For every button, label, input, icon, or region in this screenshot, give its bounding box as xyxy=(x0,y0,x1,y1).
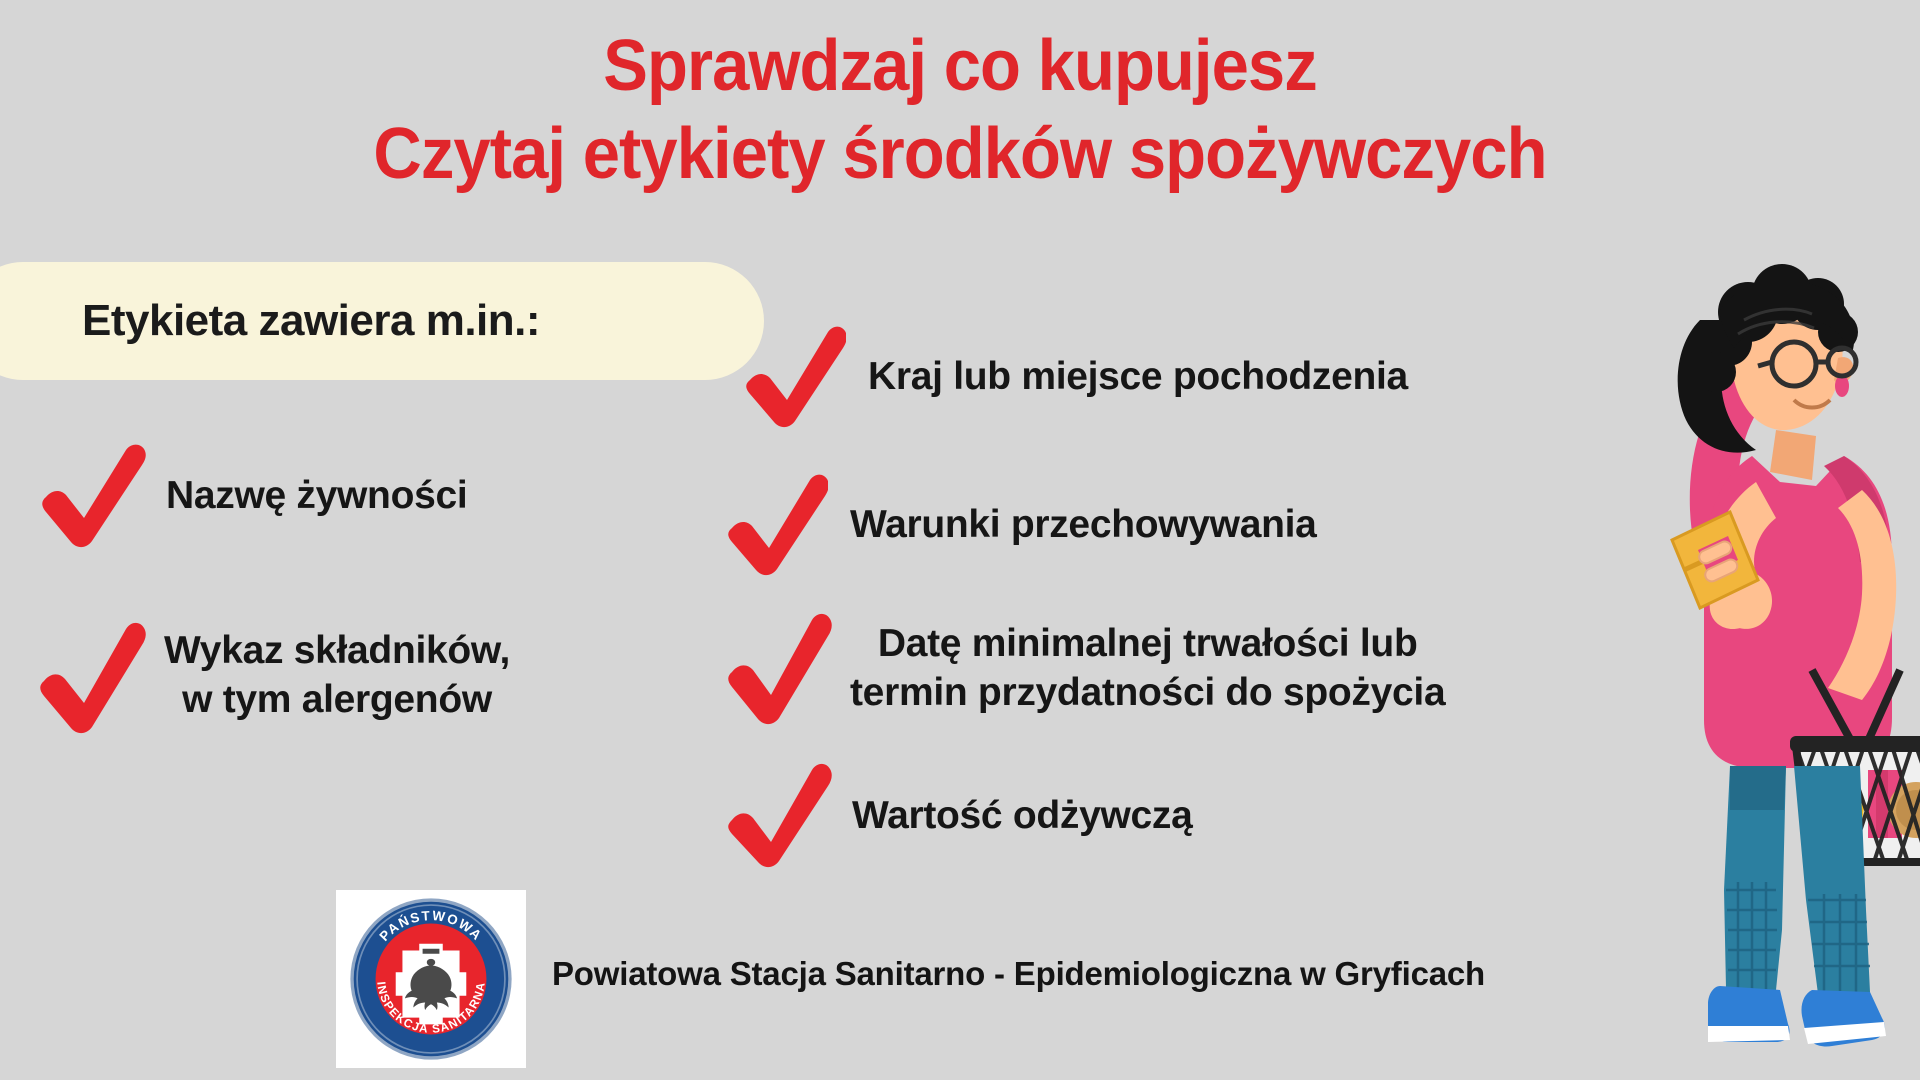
infographic-canvas: Sprawdzaj co kupujesz Czytaj etykiety śr… xyxy=(0,0,1920,1080)
list-item-label: Wartość odżywczą xyxy=(852,791,1193,840)
check-icon xyxy=(740,322,846,430)
list-item-label: Datę minimalnej trwałości lub termin prz… xyxy=(850,619,1445,717)
list-item-label: Wykaz składników, w tym alergenów xyxy=(164,626,510,724)
footer-organization-name: Powiatowa Stacja Sanitarno - Epidemiolog… xyxy=(552,955,1485,993)
list-item: Datę minimalnej trwałości lub termin prz… xyxy=(722,608,1445,728)
title-line-2: Czytaj etykiety środków spożywczych xyxy=(67,110,1853,198)
title-line-1: Sprawdzaj co kupujesz xyxy=(67,22,1853,110)
list-item-label: Warunki przechowywania xyxy=(850,500,1317,549)
list-item: Wartość odżywczą xyxy=(722,760,1193,870)
badge-label: Etykieta zawiera m.in.: xyxy=(82,296,540,346)
check-icon xyxy=(34,440,146,550)
page-title: Sprawdzaj co kupujesz Czytaj etykiety śr… xyxy=(67,22,1853,198)
list-item: Warunki przechowywania xyxy=(722,470,1317,578)
list-item: Nazwę żywności xyxy=(34,440,467,550)
check-icon xyxy=(34,615,146,735)
list-item: Kraj lub miejsce pochodzenia xyxy=(740,322,1408,430)
check-icon xyxy=(722,470,828,578)
logo-container: PAŃSTWOWA INSPEKCJA SANITARNA xyxy=(336,890,526,1068)
list-item-label: Nazwę żywności xyxy=(166,471,467,520)
panstwowa-inspekcja-sanitarna-logo: PAŃSTWOWA INSPEKCJA SANITARNA xyxy=(347,895,515,1063)
check-icon xyxy=(722,760,832,870)
check-icon xyxy=(722,608,832,728)
list-item-label: Kraj lub miejsce pochodzenia xyxy=(868,352,1408,401)
list-item: Wykaz składników, w tym alergenów xyxy=(34,615,510,735)
woman-reading-food-label-illustration xyxy=(1580,250,1920,1080)
label-contains-badge: Etykieta zawiera m.in.: xyxy=(0,262,764,380)
